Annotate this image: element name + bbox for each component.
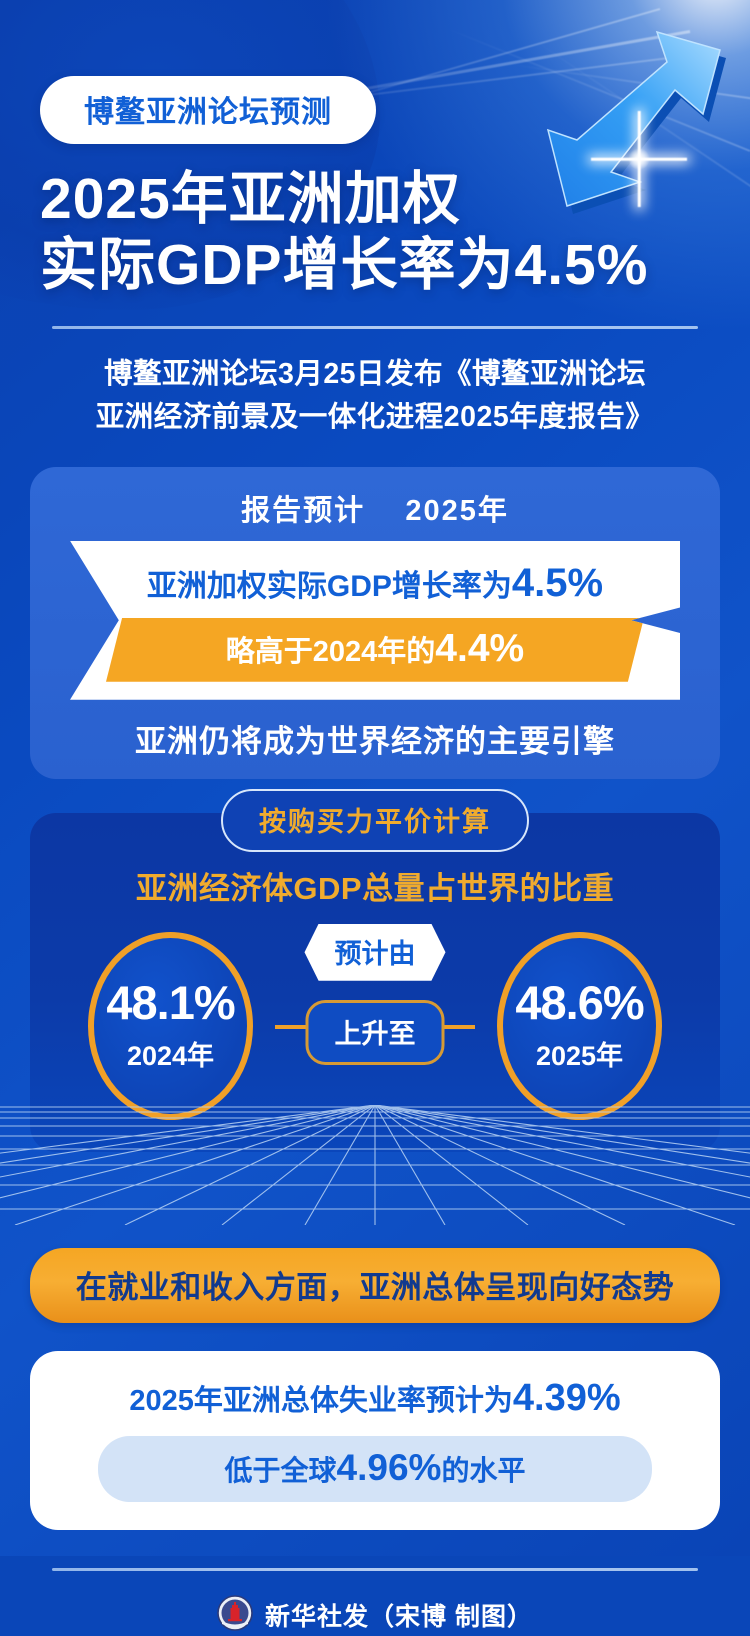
gdp-comparison-label: 略高于2024年的 [226,636,436,668]
share-circle-2025: 48.6% 2025年 [497,932,662,1120]
forecast-panel-heading: 报告预计 2025年 [30,477,720,533]
eyebrow-badge: 博鳌亚洲论坛预测 [40,76,376,144]
unemployment-value: 4.39% [513,1377,621,1419]
xinhua-emblem-icon [217,1595,253,1636]
share-value-2025: 48.6% [515,979,643,1026]
header: 博鳌亚洲论坛预测 2025年亚洲加权 实际GDP增长率为4.5% [0,0,750,298]
divider-top [52,326,698,329]
forecast-panel: 报告预计 2025年 亚洲加权实际GDP增长率为4.5% 略高于2024年的4.… [30,467,720,779]
share-card: 按购买力平价计算 亚洲经济体GDP总量占世界的比重 48.1% 2024年 48… [30,813,720,1152]
gdp-growth-value: 4.5% [512,561,603,605]
share-comparison: 48.1% 2024年 48.6% 2025年 预计由 上升至 [30,926,720,1126]
page-title-line1: 2025年亚洲加权 [40,166,710,232]
global-comparison-prefix: 低于全球 [225,1455,337,1486]
page-title-line2: 实际GDP增长率为4.5% [40,232,710,298]
share-section: 按购买力平价计算 亚洲经济体GDP总量占世界的比重 48.1% 2024年 48… [30,813,720,1152]
share-year-2024: 2024年 [127,1034,214,1073]
rise-to-label: 上升至 [306,1000,445,1065]
forecast-head-right: 2025年 [405,495,509,527]
unemployment-statement: 2025年亚洲总体失业率预计为4.39% [56,1377,694,1420]
page-title: 2025年亚洲加权 实际GDP增长率为4.5% [40,166,710,298]
forecast-chevron-card: 亚洲加权实际GDP增长率为4.5% 略高于2024年的4.4% [70,541,680,700]
divider-bottom [52,1568,698,1571]
gdp-growth-statement: 亚洲加权实际GDP增长率为4.5% [80,561,670,606]
global-comparison-suffix: 的水平 [441,1455,525,1486]
unemployment-card: 2025年亚洲总体失业率预计为4.39% 低于全球4.96%的水平 [30,1351,720,1530]
share-heading: 亚洲经济体GDP总量占世界的比重 [30,863,720,908]
share-circle-2024: 48.1% 2024年 [88,932,253,1120]
share-value-2024: 48.1% [106,979,234,1026]
share-year-2025: 2025年 [536,1034,623,1073]
gdp-comparison-banner: 略高于2024年的4.4% [106,618,644,682]
lede-paragraph: 博鳌亚洲论坛3月25日发布《博鳌亚洲论坛 亚洲经济前景及一体化进程2025年度报… [40,353,710,439]
footer: 新华社发（宋博 制图） [0,1595,750,1636]
footer-credit: 新华社发（宋博 制图） [265,1597,533,1633]
forecast-panel-footer: 亚洲仍将成为世界经济的主要引擎 [30,716,720,761]
global-comparison-pill: 低于全球4.96%的水平 [98,1436,652,1502]
forecast-head-left: 报告预计 [241,495,365,527]
gdp-comparison-value: 4.4% [435,627,524,670]
global-comparison-value: 4.96% [337,1447,442,1488]
employment-banner: 在就业和收入方面，亚洲总体呈现向好态势 [30,1248,720,1323]
gdp-growth-label: 亚洲加权实际GDP增长率为 [147,570,512,603]
expected-from-label: 预计由 [305,924,446,981]
lede-line2: 亚洲经济前景及一体化进程2025年度报告》 [40,396,710,439]
ppp-badge: 按购买力平价计算 [221,789,529,852]
unemployment-label: 2025年亚洲总体失业率预计为 [129,1385,513,1417]
lede-line1: 博鳌亚洲论坛3月25日发布《博鳌亚洲论坛 [40,353,710,396]
